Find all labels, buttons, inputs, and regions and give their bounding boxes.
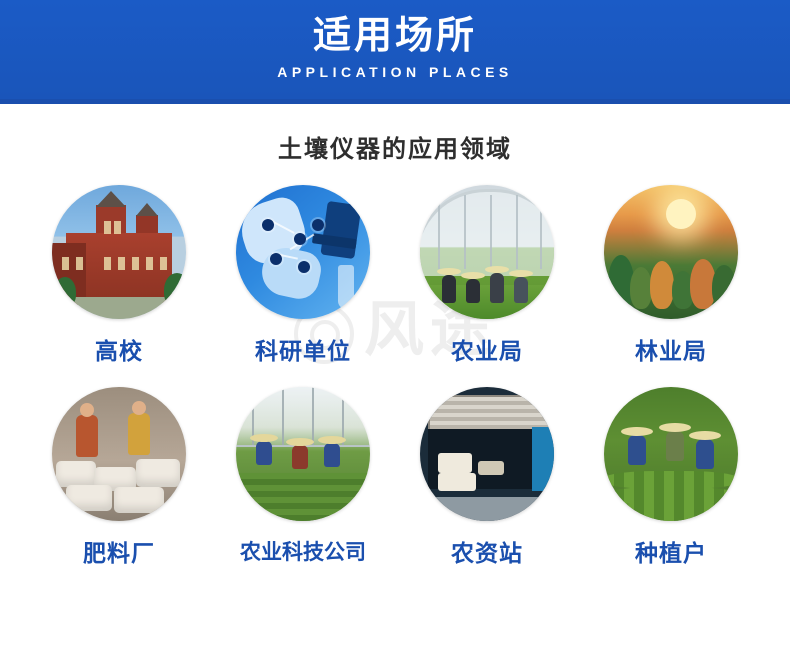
laboratory-research-photo <box>236 185 370 319</box>
banner-title: 适用场所 <box>0 14 790 58</box>
cell-label: 高校 <box>27 337 211 365</box>
grid-row: 肥料厂 农业科技公司 <box>0 387 790 567</box>
cell-label: 科研单位 <box>211 337 395 365</box>
cell-label: 农业局 <box>395 337 579 365</box>
autumn-forest-photo <box>604 185 738 319</box>
farmers-in-vegetable-field-photo <box>604 387 738 521</box>
grid-cell-agri-supply-station[interactable]: 农资站 <box>395 387 579 567</box>
application-grid: 高校 <box>0 185 790 567</box>
greenhouse-field-inspection-photo <box>420 185 554 319</box>
cell-label: 农资站 <box>395 539 579 567</box>
grid-cell-agriculture-bureau[interactable]: 农业局 <box>395 185 579 365</box>
grid-cell-forestry-bureau[interactable]: 林业局 <box>579 185 763 365</box>
grid-cell-agri-tech-company[interactable]: 农业科技公司 <box>211 387 395 567</box>
grid-cell-growers[interactable]: 种植户 <box>579 387 763 567</box>
grid-cell-fertilizer-factory[interactable]: 肥料厂 <box>27 387 211 567</box>
university-building-photo <box>52 185 186 319</box>
cell-label: 农业科技公司 <box>211 539 395 567</box>
grid-row: 高校 <box>0 185 790 365</box>
section-title: 土壤仪器的应用领域 <box>0 133 790 167</box>
application-places-page: 适用场所 APPLICATION PLACES 土壤仪器的应用领域 风途 <box>0 0 790 664</box>
cell-label: 肥料厂 <box>27 539 211 567</box>
grid-cell-university[interactable]: 高校 <box>27 185 211 365</box>
grid-cell-research-institute[interactable]: 科研单位 <box>211 185 395 365</box>
cell-label: 种植户 <box>579 539 763 567</box>
header-banner: 适用场所 APPLICATION PLACES <box>0 0 790 104</box>
cell-label: 林业局 <box>579 337 763 365</box>
agricultural-supply-store-photo <box>420 387 554 521</box>
banner-subtitle: APPLICATION PLACES <box>0 64 790 80</box>
greenhouse-seedling-workers-photo <box>236 387 370 521</box>
fertilizer-sacks-workers-photo <box>52 387 186 521</box>
